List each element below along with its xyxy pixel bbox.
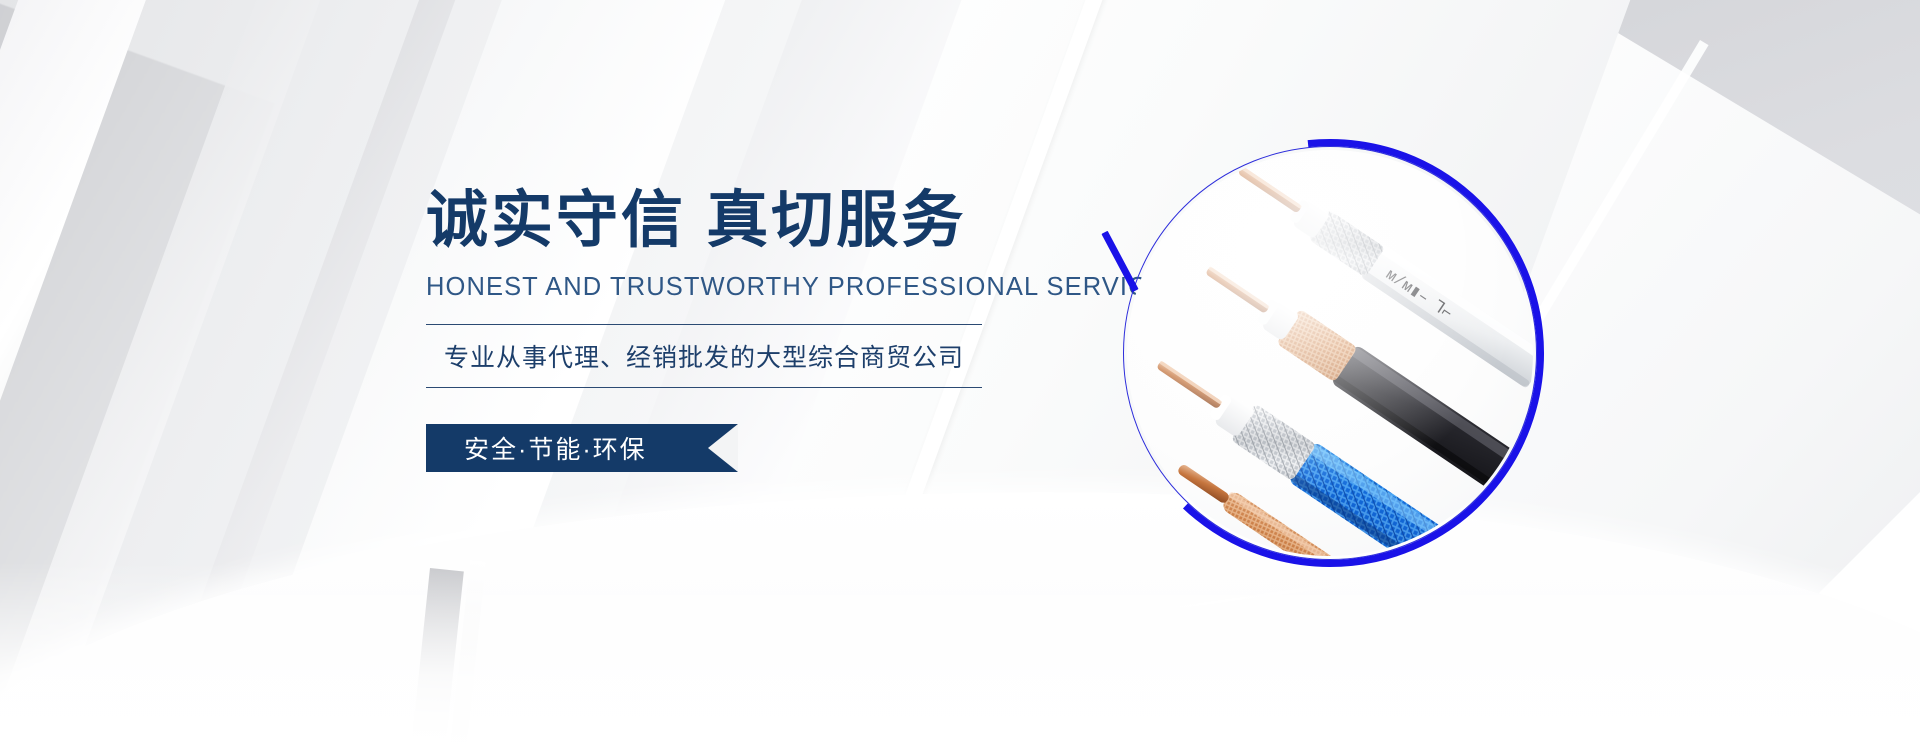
hero-banner: 诚实守信 真切服务 HONEST AND TRUSTWORTHY PROFESS… [0,0,1920,752]
background-corner-triangle-inner [1550,582,1880,752]
page-subtitle: HONEST AND TRUSTWORTHY PROFESSIONAL SERV… [426,273,1026,302]
description-rule-box: 专业从事代理、经销批发的大型综合商贸公司 [426,324,982,388]
background-left-wedge [0,0,275,752]
background-floor-bar [410,568,464,752]
page-title: 诚实守信 真切服务 [426,188,1026,255]
background-floor-highlight [0,562,1920,752]
background-floor-curve [0,492,1920,752]
banner-copy: 诚实守信 真切服务 HONEST AND TRUSTWORTHY PROFESS… [426,188,1026,472]
background-floor-seam [1051,576,1388,626]
background-left-wedge-highlight [0,0,153,752]
background-stripe-a [0,0,356,752]
background-floor-bar-highlight [449,560,486,752]
ribbon-notch-shape [708,424,738,472]
feature-ribbon: 安全·节能·环保 [426,424,738,472]
feature-ribbon-label: 安全·节能·环保 [426,430,647,466]
product-medallion: ᴍ/ᴍ▮‒ ⅂⌐ [1123,146,1537,560]
description-text: 专业从事代理、经销批发的大型综合商贸公司 [426,338,982,374]
background-corner-triangle [1540,452,1920,752]
